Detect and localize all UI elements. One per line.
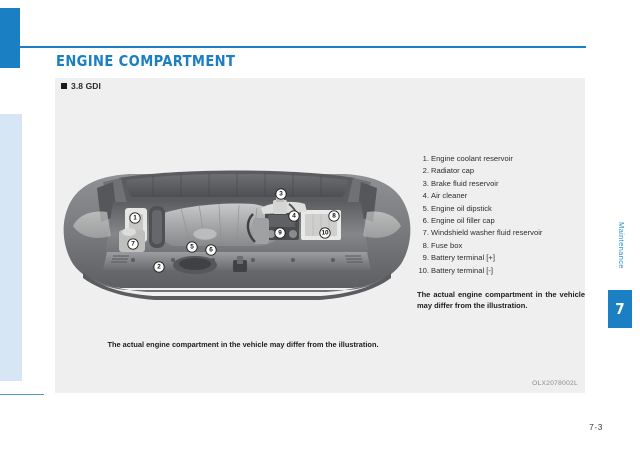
svg-text:8: 8 xyxy=(332,213,336,220)
svg-text:3: 3 xyxy=(279,191,283,198)
list-item-label: Engine oil filler cap xyxy=(431,216,495,225)
callout-6: 6 xyxy=(206,245,216,255)
engine-compartment-illustration: 1 7 2 5 6 3 4 xyxy=(57,152,417,300)
figure-code: OLX2078002L xyxy=(532,380,578,387)
list-item-number: 1. xyxy=(417,153,429,165)
callout-8: 8 xyxy=(329,211,339,221)
list-item-number: 3. xyxy=(417,178,429,190)
brake-fluid-reservoir xyxy=(273,200,287,214)
list-item: 10.Battery terminal [-] xyxy=(417,265,585,277)
list-item: 5.Engine oil dipstick xyxy=(417,203,585,215)
list-item-number: 4. xyxy=(417,190,429,202)
svg-text:5: 5 xyxy=(190,244,194,251)
list-item: 8.Fuse box xyxy=(417,240,585,252)
callout-9: 9 xyxy=(275,228,285,238)
callout-4: 4 xyxy=(289,211,299,221)
list-item-label: Radiator cap xyxy=(431,166,474,175)
list-item-label: Battery terminal [+] xyxy=(431,253,495,262)
list-item-label: Fuse box xyxy=(431,241,462,250)
svg-text:1: 1 xyxy=(133,215,137,222)
content-panel: 3.8 GDI xyxy=(55,78,585,393)
list-item-number: 7. xyxy=(417,227,429,239)
list-item-number: 6. xyxy=(417,215,429,227)
list-item-label: Engine oil dipstick xyxy=(431,204,492,213)
list-item-label: Engine coolant reservoir xyxy=(431,154,513,163)
svg-text:9: 9 xyxy=(278,230,282,237)
engine-cover-badge xyxy=(193,228,217,240)
engine-variant-heading: 3.8 GDI xyxy=(61,81,101,91)
list-item: 2.Radiator cap xyxy=(417,165,585,177)
washer-cap xyxy=(122,228,136,236)
callout-1: 1 xyxy=(130,213,140,223)
square-bullet-icon xyxy=(61,83,67,89)
svg-text:10: 10 xyxy=(321,230,329,237)
battery-terminal-negative xyxy=(289,230,297,238)
list-item-label: Windshield washer fluid reservoir xyxy=(431,228,542,237)
list-disclaimer-note: The actual engine compartment in the veh… xyxy=(417,290,585,311)
callout-7: 7 xyxy=(128,239,138,249)
list-item-label: Brake fluid reservoir xyxy=(431,179,499,188)
engine-variant-label: 3.8 GDI xyxy=(71,81,101,91)
list-item: 4.Air cleaner xyxy=(417,190,585,202)
svg-text:7: 7 xyxy=(131,241,135,248)
list-item-number: 9. xyxy=(417,252,429,264)
left-edge-tab xyxy=(0,8,20,68)
callout-5: 5 xyxy=(187,242,197,252)
svg-text:4: 4 xyxy=(292,213,296,220)
figure-caption: The actual engine compartment in the veh… xyxy=(73,340,413,349)
sidebar-chapter-number: 7 xyxy=(608,290,632,328)
list-item: 9.Battery terminal [+] xyxy=(417,252,585,264)
list-item: 1.Engine coolant reservoir xyxy=(417,153,585,165)
list-item: 7.Windshield washer fluid reservoir xyxy=(417,227,585,239)
list-item: 6.Engine oil filler cap xyxy=(417,215,585,227)
list-item-number: 5. xyxy=(417,203,429,215)
list-item-number: 10. xyxy=(417,265,429,277)
list-item-number: 8. xyxy=(417,240,429,252)
page-title: ENGINE COMPARTMENT xyxy=(56,52,235,70)
svg-text:6: 6 xyxy=(209,247,213,254)
svg-text:2: 2 xyxy=(157,264,161,271)
callout-10: 10 xyxy=(320,228,330,238)
page-number: 7-3 xyxy=(589,422,603,432)
air-cleaner-duct xyxy=(253,218,269,244)
list-item: 3.Brake fluid reservoir xyxy=(417,178,585,190)
list-item-label: Battery terminal [-] xyxy=(431,266,493,275)
left-edge-band xyxy=(0,114,22,381)
list-item-label: Air cleaner xyxy=(431,191,467,200)
list-item-number: 2. xyxy=(417,165,429,177)
callout-3: 3 xyxy=(276,189,286,199)
parts-list: 1.Engine coolant reservoir 2.Radiator ca… xyxy=(417,153,585,277)
sidebar-section-label: Maintenance xyxy=(617,222,626,269)
header-divider xyxy=(20,46,586,48)
callout-2: 2 xyxy=(154,262,164,272)
left-edge-rule xyxy=(0,394,44,395)
